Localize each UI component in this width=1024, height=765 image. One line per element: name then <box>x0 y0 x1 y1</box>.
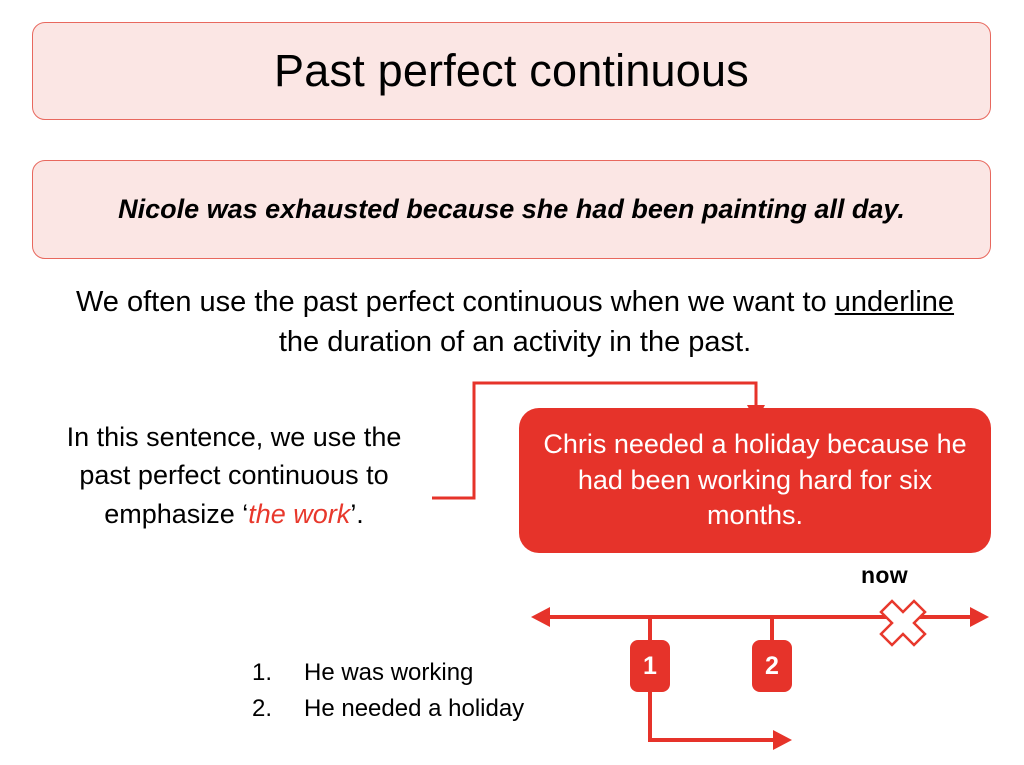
callout-text: Chris needed a holiday because he had be… <box>519 427 991 535</box>
example-sentence-text: Nicole was exhausted because she had bee… <box>84 192 939 228</box>
timeline-marker-1: 1 <box>630 640 670 692</box>
list-item-label: He was working <box>304 655 473 691</box>
list-item: 1. He was working <box>252 655 524 691</box>
callout-box: Chris needed a holiday because he had be… <box>519 408 991 553</box>
left-note-after: ’. <box>350 499 364 529</box>
explanation-underlined-word: underline <box>835 286 954 318</box>
list-item: 2. He needed a holiday <box>252 691 524 727</box>
example-sentence-box: Nicole was exhausted because she had bee… <box>32 160 991 259</box>
title-box: Past perfect continuous <box>32 22 991 120</box>
page-title: Past perfect continuous <box>254 47 769 94</box>
timeline-marker-1-label: 1 <box>643 652 657 681</box>
list-item-label: He needed a holiday <box>304 691 524 727</box>
explanation-after: the duration of an activity in the past. <box>279 326 751 358</box>
timeline-marker-2: 2 <box>752 640 792 692</box>
timeline-now-label: now <box>861 562 908 589</box>
explanation-before: We often use the past perfect continuous… <box>76 286 835 318</box>
left-note-emphasis: the work <box>248 499 350 529</box>
explanation-paragraph: We often use the past perfect continuous… <box>52 282 978 362</box>
event-list: 1. He was working 2. He needed a holiday <box>252 655 524 726</box>
slide-canvas: Past perfect continuous Nicole was exhau… <box>0 0 1024 765</box>
timeline-marker-2-label: 2 <box>765 652 779 681</box>
left-note-paragraph: In this sentence, we use the past perfec… <box>56 418 412 533</box>
list-item-number: 2. <box>252 691 304 727</box>
list-item-number: 1. <box>252 655 304 691</box>
